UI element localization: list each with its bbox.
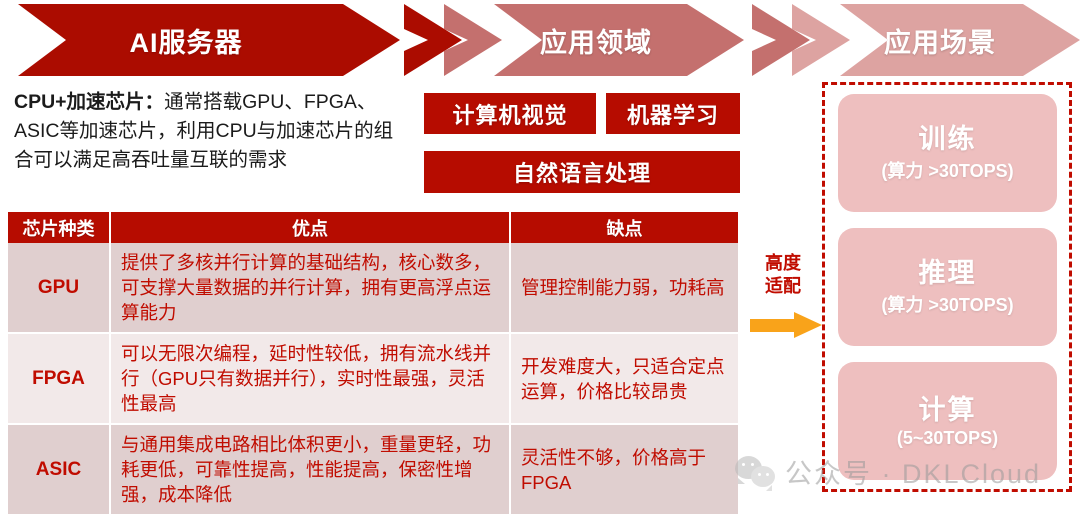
domain-box-machine-learning: 机器学习: [606, 93, 740, 134]
flow-step-application-scenario: 应用场景: [840, 4, 1080, 76]
flow-step-application-domain: 应用领域: [494, 4, 744, 76]
cell-chip-type: GPU: [8, 243, 110, 333]
scenario-subtitle: (算力 >30TOPS): [881, 291, 1013, 317]
cell-pros: 与通用集成电路相比体积更小，重量更轻，功耗更低，可靠性提高，性能提高，保密性增强…: [110, 424, 510, 515]
cell-cons: 灵活性不够，价格高于FPGA: [510, 424, 738, 515]
column-header-cons: 缺点: [510, 212, 738, 243]
domain-box-computer-vision: 计算机视觉: [424, 93, 596, 134]
high-fit-label: 高度 适配: [750, 252, 816, 298]
arrow-head: [794, 312, 822, 338]
high-fit-label-line2: 适配: [750, 275, 816, 298]
arrow-shaft: [750, 319, 798, 332]
cell-chip-type: ASIC: [8, 424, 110, 515]
scenario-title: 训练: [919, 123, 977, 155]
wechat-icon: [735, 456, 777, 488]
wechat-dot: [758, 473, 761, 476]
scenario-box-inference: 推理 (算力 >30TOPS): [838, 228, 1057, 346]
table-header-row: 芯片种类 优点 缺点: [8, 212, 738, 243]
flow-step-ai-server: AI服务器: [18, 4, 400, 76]
wechat-bubble-back: [735, 456, 762, 479]
scenario-subtitle: (5~30TOPS): [897, 428, 998, 449]
high-fit-label-line1: 高度: [750, 252, 816, 275]
cell-cons: 管理控制能力弱，功耗高: [510, 243, 738, 333]
scenario-box-training: 训练 (算力 >30TOPS): [838, 94, 1057, 212]
wechat-dot: [766, 473, 769, 476]
table-row: ASIC 与通用集成电路相比体积更小，重量更轻，功耗更低，可靠性提高，性能提高，…: [8, 424, 738, 515]
wechat-bubble-front: [751, 466, 775, 487]
scenario-title: 推理: [919, 257, 977, 289]
column-header-pros: 优点: [110, 212, 510, 243]
table-row: GPU 提供了多核并行计算的基础结构，核心数多，可支撑大量数据的并行计算，拥有更…: [8, 243, 738, 333]
scenario-title: 计算: [919, 394, 977, 426]
wechat-dot: [751, 463, 754, 466]
table-row: FPGA 可以无限次编程，延时性较低，拥有流水线并行（GPU只有数据并行），实时…: [8, 333, 738, 424]
cell-cons: 开发难度大，只适合定点运算，价格比较昂贵: [510, 333, 738, 424]
right-arrow-icon: [750, 312, 822, 338]
cell-pros: 可以无限次编程，延时性较低，拥有流水线并行（GPU只有数据并行），实时性最强，灵…: [110, 333, 510, 424]
scenario-subtitle: (算力 >30TOPS): [881, 157, 1013, 183]
domain-box-nlp: 自然语言处理: [424, 151, 740, 193]
wechat-dot: [742, 463, 745, 466]
column-header-chip-type: 芯片种类: [8, 212, 110, 243]
cell-chip-type: FPGA: [8, 333, 110, 424]
scenario-box-computing: 计算 (5~30TOPS): [838, 362, 1057, 480]
diagram-canvas: AI服务器 应用领域 应用场景 CPU+加速芯片：通常搭载GPU、FPGA、AS…: [0, 0, 1080, 508]
cpu-description-lead: CPU+加速芯片：: [14, 91, 164, 113]
process-flow-header: AI服务器 应用领域 应用场景: [0, 4, 1080, 76]
cell-pros: 提供了多核并行计算的基础结构，核心数多，可支撑大量数据的并行计算，拥有更高浮点运…: [110, 243, 510, 333]
cpu-description-paragraph: CPU+加速芯片：通常搭载GPU、FPGA、ASIC等加速芯片，利用CPU与加速…: [14, 88, 406, 175]
chip-comparison-table: 芯片种类 优点 缺点 GPU 提供了多核并行计算的基础结构，核心数多，可支撑大量…: [8, 212, 738, 516]
